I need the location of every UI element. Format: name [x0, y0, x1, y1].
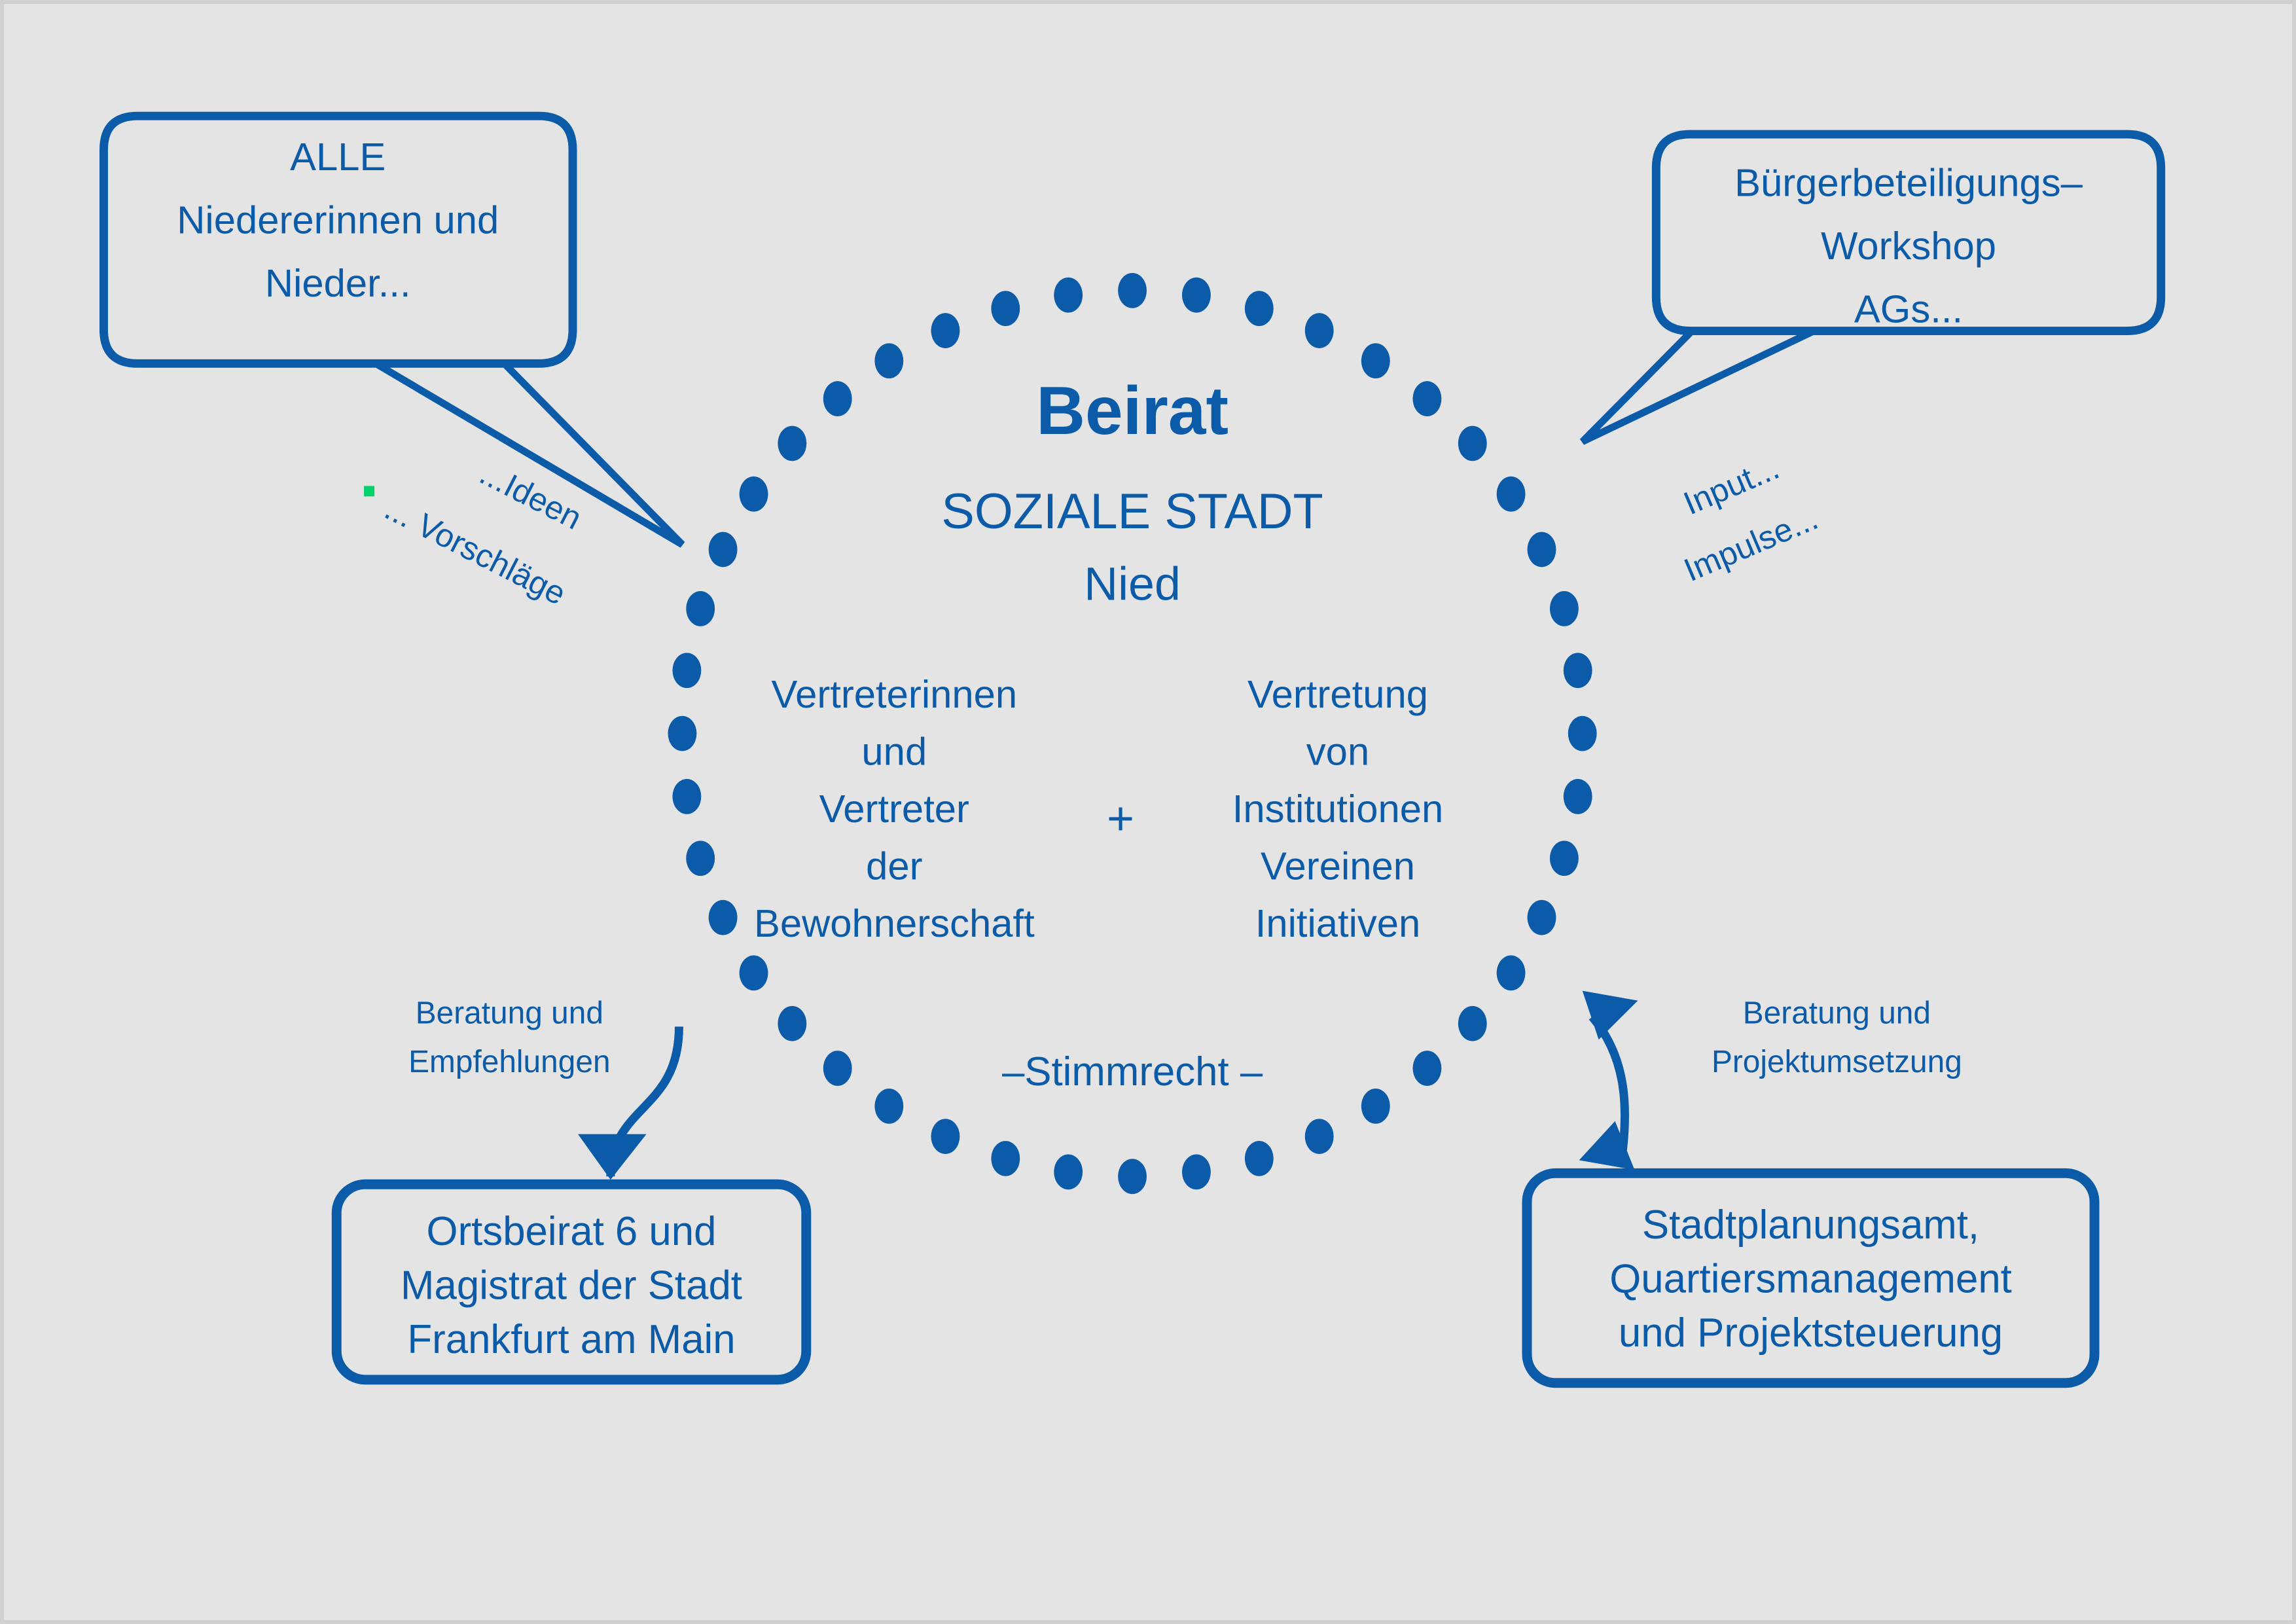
circle-dot [1413, 1051, 1442, 1086]
circle-dot [740, 477, 768, 512]
bubble-right-line-3: AGs... [1854, 287, 1963, 331]
right-column-line-4: Vereinen [1261, 844, 1415, 888]
circle-dot [1568, 716, 1597, 751]
box-right-line-1: Stadtplanungsamt, [1642, 1202, 1979, 1248]
box-right-line-3: und Projektsteuerung [1619, 1310, 2003, 1356]
diagram-canvas: Beirat SOZIALE STADT Nied Vertreterinnen… [0, 0, 2296, 1624]
flow-arrow-left: Beratung und Empfehlungen [408, 996, 679, 1180]
circle-dot [1118, 1159, 1147, 1194]
beirat-structure-diagram: Beirat SOZIALE STADT Nied Vertreterinnen… [4, 4, 2292, 1620]
circle-dot [931, 313, 960, 348]
circle-dot [1550, 591, 1579, 626]
circle-dot [778, 1006, 806, 1041]
bubble-right-line-1: Bürgerbeteiligungs– [1734, 161, 2083, 205]
center-subtitle-line1: SOZIALE STADT [941, 484, 1323, 539]
circle-dot [874, 1089, 903, 1124]
left-column-line-4: der [866, 844, 922, 888]
circle-dot [1564, 779, 1592, 814]
circle-dot [686, 591, 715, 626]
left-column-line-5: Bewohnerschaft [754, 901, 1035, 945]
flow-label-left-line-1: Beratung und [416, 996, 603, 1030]
circle-dot [1245, 291, 1274, 326]
left-column-line-2: und [861, 729, 927, 773]
right-column-line-5: Initiativen [1255, 901, 1421, 945]
circle-dot [1528, 532, 1556, 568]
box-right-line-2: Quartiersmanagement [1609, 1256, 2012, 1301]
right-column-line-1: Vertretung [1247, 672, 1428, 716]
circle-dot [1497, 477, 1526, 512]
speech-bubble-buergerbeteiligung[interactable]: Bürgerbeteiligungs– Workshop AGs... [1583, 134, 2161, 442]
circle-dot [1054, 278, 1083, 313]
circle-dot [1497, 956, 1526, 991]
bubble-tail-right [1583, 331, 1814, 442]
circle-dot [668, 716, 697, 751]
circle-dot [778, 426, 806, 461]
flow-arrow-right-head-up [1583, 991, 1638, 1040]
circle-dot [1458, 426, 1487, 461]
circle-dot [672, 779, 701, 814]
flow-arrow-right: Beratung und Projektumsetzung [1579, 991, 1962, 1170]
circle-dot [709, 900, 738, 935]
circle-dot [1182, 1155, 1211, 1190]
stimmrecht-footer: –Stimmrecht – [1002, 1049, 1263, 1094]
bubble-left-line-1: ALLE [290, 135, 386, 179]
flow-label-right-line-1: Beratung und [1743, 996, 1931, 1030]
circle-dot [672, 653, 701, 688]
circle-dot [1550, 840, 1579, 876]
circle-dot [1413, 381, 1442, 416]
box-left-line-2: Magistrat der Stadt [401, 1263, 742, 1308]
circle-dot [1054, 1155, 1083, 1190]
bubble-right-line-2: Workshop [1821, 224, 1996, 268]
left-column-line-1: Vertreterinnen [772, 672, 1018, 716]
bubble-left-line-3: Nieder... [265, 261, 411, 305]
center-title: Beirat [1036, 372, 1229, 448]
box-ortsbeirat[interactable]: Ortsbeirat 6 und Magistrat der Stadt Fra… [336, 1184, 806, 1380]
annotation-ideen: ...Ideen [474, 455, 588, 537]
circle-dot [991, 291, 1020, 326]
circle-dot [1458, 1006, 1487, 1041]
right-column-line-2: von [1306, 729, 1369, 773]
circle-dot [991, 1141, 1020, 1176]
circle-dot [1305, 313, 1334, 348]
circle-dot [823, 381, 852, 416]
right-column-line-3: Institutionen [1232, 787, 1443, 831]
green-marker-dot [364, 486, 374, 496]
circle-dot [1361, 1089, 1390, 1124]
box-left-line-1: Ortsbeirat 6 und [427, 1209, 717, 1254]
box-stadtplanungsamt[interactable]: Stadtplanungsamt, Quartiersmanagement un… [1527, 1173, 2094, 1382]
annotation-group-right: Input... Impulse... [1678, 449, 1823, 588]
circle-dot [686, 840, 715, 876]
circle-dot [874, 343, 903, 378]
annotation-input: Input... [1678, 449, 1784, 522]
circle-dot [740, 956, 768, 991]
annotation-group-left: ...Ideen ... Vorschläge [364, 455, 588, 613]
speech-bubble-alle-niederer[interactable]: ALLE Niedererinnen und Nieder... [103, 116, 682, 545]
circle-dot [1245, 1141, 1274, 1176]
flow-label-left-line-2: Empfehlungen [408, 1045, 610, 1079]
plus-operator: + [1107, 793, 1134, 845]
circle-dot [1118, 273, 1147, 308]
circle-dot [823, 1051, 852, 1086]
circle-dot [1564, 653, 1592, 688]
circle-dot [1361, 343, 1390, 378]
flow-arrow-left-head [578, 1134, 647, 1180]
box-left-line-3: Frankfurt am Main [407, 1317, 735, 1362]
flow-label-right-line-2: Projektumsetzung [1712, 1045, 1962, 1079]
center-subtitle-line2: Nied [1084, 558, 1181, 611]
circle-dot [931, 1119, 960, 1154]
circle-dot [1305, 1119, 1334, 1154]
circle-dot [1182, 278, 1211, 313]
left-column-line-3: Vertreter [819, 787, 969, 831]
bubble-left-line-2: Niedererinnen und [177, 198, 499, 242]
circle-dot [709, 532, 738, 568]
circle-dot [1528, 900, 1556, 935]
